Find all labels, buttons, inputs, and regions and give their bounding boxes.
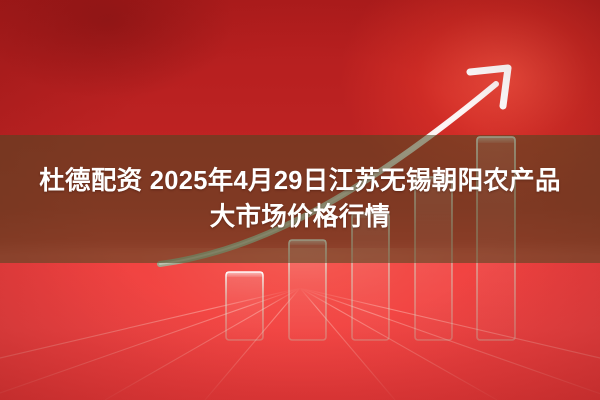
page-title-line-2: 大市场价格行情 [210, 199, 391, 235]
title-overlay-band: 杜德配资 2025年4月29日江苏无锡朝阳农产品 大市场价格行情 [0, 135, 600, 263]
page-title-line-1: 杜德配资 2025年4月29日江苏无锡朝阳农产品 [39, 163, 561, 199]
banner-image: 杜德配资 2025年4月29日江苏无锡朝阳农产品 大市场价格行情 [0, 0, 600, 400]
